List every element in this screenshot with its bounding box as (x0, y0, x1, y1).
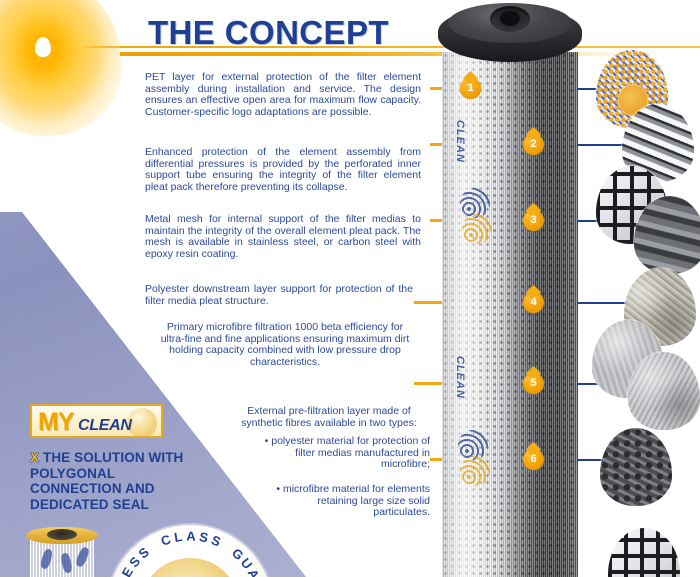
swatch-synthetic-fibre (600, 428, 672, 506)
callout-text-6-bullet-2: • microfibre material for elements retai… (275, 484, 430, 519)
solution-x-marker: X (30, 450, 39, 465)
callout-badge-6[interactable]: 6 (523, 449, 544, 470)
callout-badge-4[interactable]: 4 (523, 292, 544, 313)
sun-glow-graphic (0, 0, 122, 136)
infographic-canvas: CLEAN CLEAN 1 2 3 4 5 6 THE CONCEPT (0, 0, 700, 577)
callout-badge-5[interactable]: 5 (523, 373, 544, 394)
filter-swirl-graphic (460, 456, 490, 486)
callout-badge-1[interactable]: 1 (460, 78, 481, 99)
callout-text-5: Primary microfibre filtration 1000 beta … (160, 322, 410, 368)
callout-text-4: Polyester downstream layer support for p… (145, 284, 413, 307)
callout-badge-2[interactable]: 2 (523, 134, 544, 155)
callout-badge-3[interactable]: 3 (523, 210, 544, 231)
swatch-microfibre-b (628, 352, 700, 430)
water-droplet-icon (35, 37, 51, 57)
filter-brand-print: CLEAN (454, 120, 466, 163)
logo-text-my: MY (38, 407, 74, 437)
filter-element-illustration: CLEAN CLEAN (432, 0, 590, 577)
callout-text-6-bullet-1: • polyester material for protection of f… (255, 436, 430, 471)
logo-text-clean: CLEAN (78, 417, 132, 435)
myclean-logo: MY CLEAN (30, 404, 163, 438)
solution-headline: X THE SOLUTION WITH POLYGONAL CONNECTION… (30, 450, 205, 512)
page-title: THE CONCEPT (148, 16, 389, 49)
product-photo-filter (26, 527, 98, 577)
callout-text-6-intro: External pre-filtration layer made of sy… (228, 406, 430, 429)
solution-headline-text: THE SOLUTION WITH POLYGONAL CONNECTION A… (30, 450, 183, 512)
callout-text-2: Enhanced protection of the element assem… (145, 147, 421, 193)
polygonal-connection-bore (500, 11, 520, 26)
filter-swirl-graphic (462, 214, 492, 244)
callout-text-1: PET layer for external protection of the… (145, 72, 421, 118)
product-photo-bore (47, 529, 77, 540)
swatch-mesh-bottom (608, 528, 680, 577)
cleanliness-seal-text: CLEANLINESSCLASSGUARANTEED (105, 523, 275, 577)
callout-text-3: Metal mesh for internal support of the f… (145, 214, 421, 260)
filter-brand-print: CLEAN (454, 356, 466, 399)
